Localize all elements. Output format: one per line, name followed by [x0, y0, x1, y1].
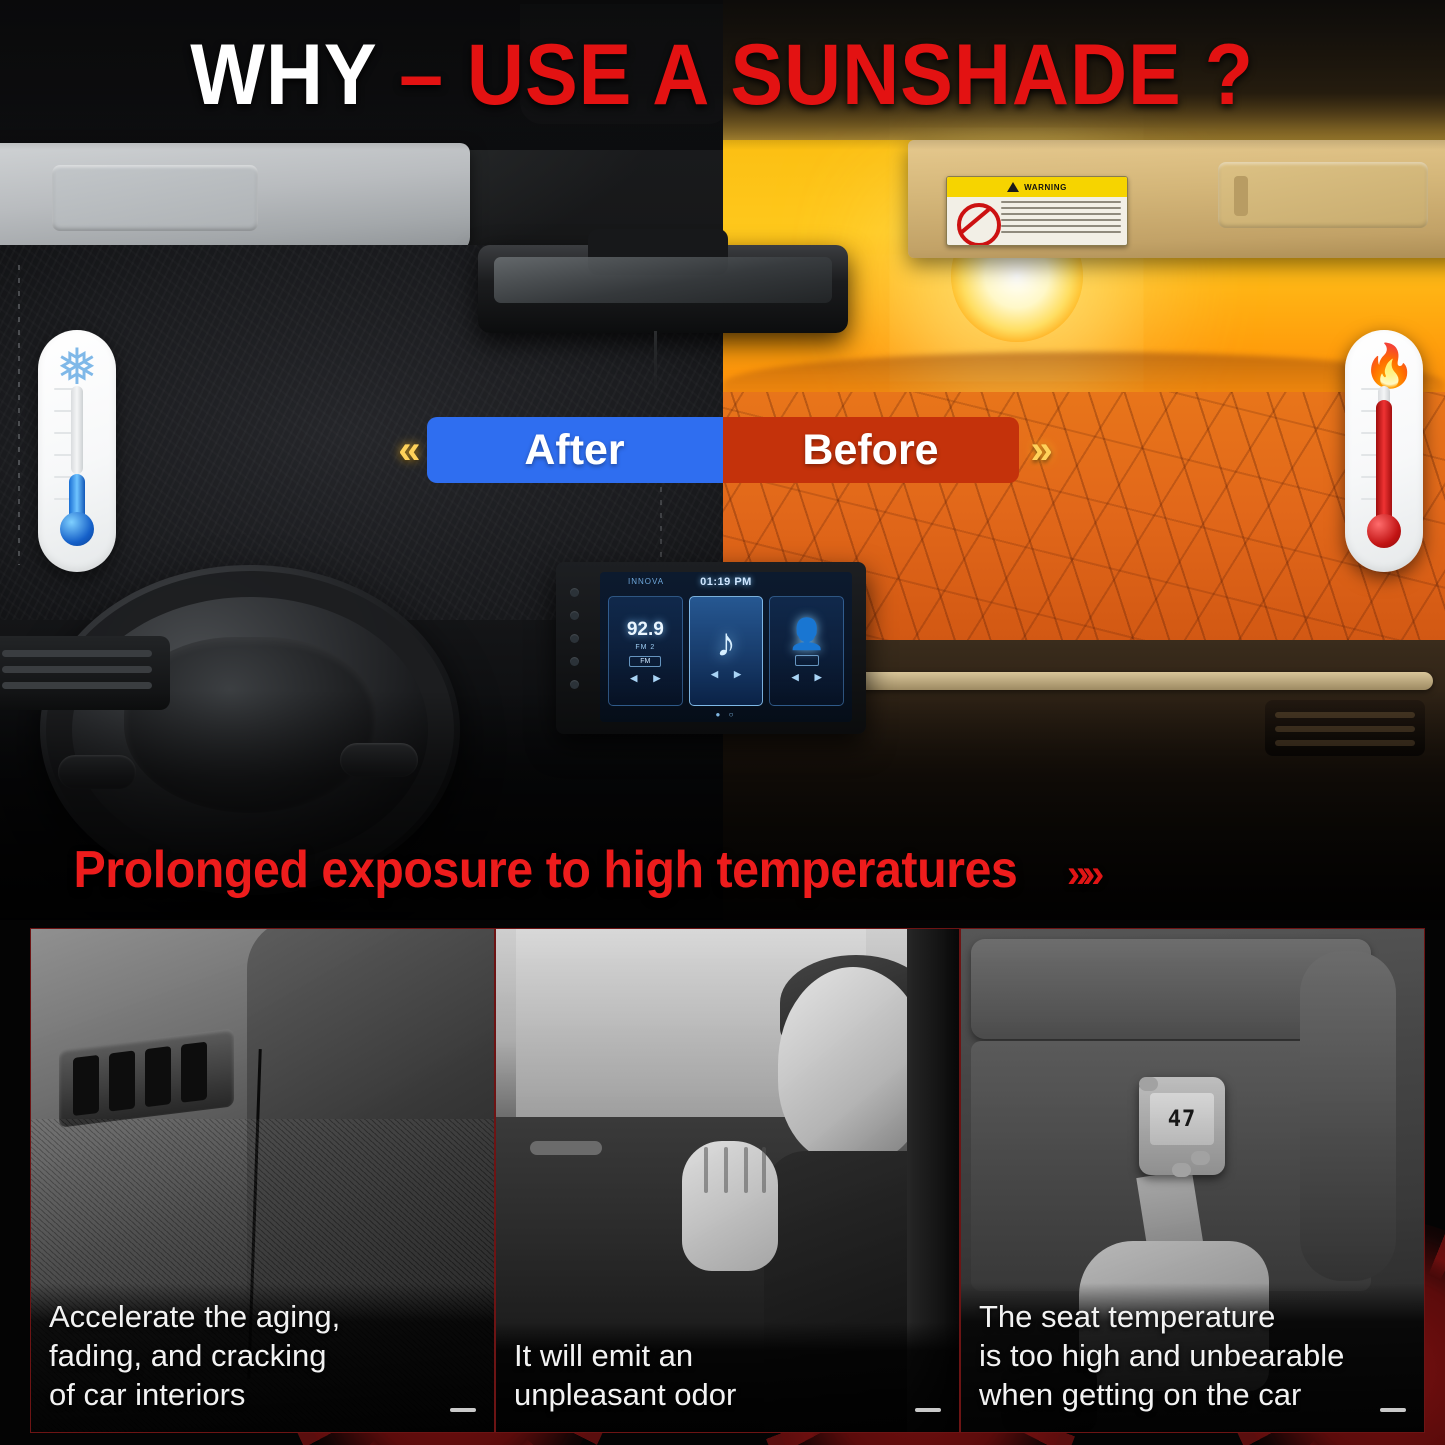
radio-tile[interactable]: 92.9 FM 2 FM ◀ ▶: [608, 596, 683, 706]
visor-slot: [68, 173, 82, 221]
warning-label-body-text: [1001, 201, 1121, 237]
mirror-cable: [654, 331, 657, 395]
caption-line: fading, and cracking: [49, 1336, 476, 1375]
door-handle: [530, 1141, 602, 1155]
media-next-icon[interactable]: ▶: [734, 669, 741, 680]
warning-label-text: WARNING: [1024, 183, 1067, 192]
dashboard-chrome-trim: [833, 672, 1433, 690]
volume-knob-icon[interactable]: [570, 611, 579, 620]
flame-icon: 🔥: [1363, 342, 1407, 390]
chevron-left-icon: «: [386, 428, 426, 473]
profile-next-icon[interactable]: ▶: [815, 672, 822, 683]
infotainment-head-unit[interactable]: INNOVA 01:19 PM 92.9 FM 2 FM ◀ ▶ ♪: [556, 562, 866, 734]
profile-prev-icon[interactable]: ◀: [792, 672, 799, 683]
head-unit-brand-label: INNOVA: [628, 577, 664, 586]
head-unit-side-buttons[interactable]: [570, 588, 579, 689]
caption-dash-icon: [1380, 1408, 1406, 1412]
chevron-right-icon-subhead: »»: [1067, 852, 1098, 897]
card-1-caption: Accelerate the aging, fading, and cracki…: [31, 1283, 494, 1432]
sun-visor-tan: WARNING: [908, 140, 1445, 258]
radio-frequency: 92.9: [627, 619, 664, 641]
chevron-right-icon: »: [1019, 428, 1059, 473]
profile-tile[interactable]: 👤 ◀ ▶: [769, 596, 844, 706]
card-unpleasant-odor: It will emit an unpleasant odor: [495, 928, 960, 1433]
menu-icon[interactable]: [570, 680, 579, 689]
caption-dash-icon: [915, 1408, 941, 1412]
power-knob-icon[interactable]: [570, 588, 579, 597]
thermometer-reading: 47: [1168, 1107, 1197, 1132]
subhead-row: Prolonged exposure to high temperatures …: [38, 840, 1097, 900]
subhead-text: Prolonged exposure to high temperatures: [74, 840, 1018, 900]
seat-bolster: [1300, 951, 1396, 1281]
infographic-root: WARNING: [0, 0, 1445, 1445]
visor-pocket: [1218, 162, 1428, 228]
infotainment-screen[interactable]: INNOVA 01:19 PM 92.9 FM 2 FM ◀ ▶ ♪: [600, 572, 852, 722]
no-child-seat-icon: [957, 203, 1001, 246]
caption-line: of car interiors: [49, 1375, 476, 1414]
sun-visor-grey: [0, 143, 470, 253]
person-hand: [682, 1141, 778, 1271]
profile-nav-controls[interactable]: ◀ ▶: [792, 672, 822, 683]
radio-band: FM 2: [635, 644, 655, 651]
media-tile[interactable]: ♪ ◀ ▶: [689, 596, 764, 706]
music-note-icon: ♪: [716, 623, 736, 663]
title-red-part: – USE A SUNSHADE ?: [400, 27, 1255, 123]
thermometer-display: 47: [1150, 1093, 1214, 1145]
snowflake-icon: ❅: [52, 342, 102, 392]
gun-button-3: [1139, 1077, 1158, 1091]
caption-line: unpleasant odor: [514, 1375, 941, 1414]
caption-dash-icon: [450, 1408, 476, 1412]
warning-triangle-icon: [1007, 182, 1019, 192]
title-white-part: WHY: [191, 27, 400, 123]
home-icon[interactable]: [570, 657, 579, 666]
before-badge[interactable]: Before: [723, 417, 1019, 483]
card-aging-interiors: Accelerate the aging, fading, and cracki…: [30, 928, 495, 1433]
media-prev-icon[interactable]: ◀: [711, 669, 718, 680]
after-badge[interactable]: After: [427, 417, 723, 483]
caption-line: Accelerate the aging,: [49, 1297, 476, 1336]
profile-name-field[interactable]: [795, 655, 819, 666]
caption-line: It will emit an: [514, 1336, 941, 1375]
title-bar: WHY – USE A SUNSHADE ?: [0, 0, 1445, 150]
thermometer-cold-bulb: [60, 512, 94, 546]
gun-button-1: [1191, 1151, 1210, 1165]
caption-line: is too high and unbearable: [979, 1336, 1406, 1375]
infotainment-clock: 01:19 PM: [700, 576, 752, 588]
radio-source-button[interactable]: FM: [629, 656, 661, 667]
page-title: WHY – USE A SUNSHADE ?: [191, 32, 1255, 118]
warning-label-header: WARNING: [947, 177, 1127, 197]
mirror-glass: [494, 257, 832, 303]
gun-button-2: [1172, 1163, 1191, 1177]
dash-vent-shape: [59, 1028, 234, 1127]
seek-next-icon[interactable]: ▶: [653, 673, 660, 684]
airbag-warning-label: WARNING: [946, 176, 1128, 246]
user-profile-icon: 👤: [788, 620, 825, 650]
rearview-mirror: [478, 245, 848, 333]
consequences-section: Accelerate the aging, fading, and cracki…: [0, 920, 1445, 1445]
caption-line: The seat temperature: [979, 1297, 1406, 1336]
caption-line: when getting on the car: [979, 1375, 1406, 1414]
before-after-badge-row: « After Before »: [0, 414, 1445, 486]
page-indicator-dots: ● ○: [600, 710, 852, 719]
radio-seek-controls[interactable]: ◀ ▶: [630, 673, 660, 684]
card-seat-temperature: 47 The seat temperature is too high and …: [960, 928, 1425, 1433]
seek-prev-icon[interactable]: ◀: [630, 673, 637, 684]
card-2-caption: It will emit an unpleasant odor: [496, 1322, 959, 1432]
infotainment-status-bar: INNOVA 01:19 PM: [600, 572, 852, 592]
person-head: [778, 967, 928, 1163]
card-3-caption: The seat temperature is too high and unb…: [961, 1283, 1424, 1432]
infotainment-tiles: 92.9 FM 2 FM ◀ ▶ ♪ ◀ ▶: [608, 596, 844, 706]
mute-icon[interactable]: [570, 634, 579, 643]
infrared-thermometer-gun: 47: [1139, 1077, 1225, 1175]
media-transport-controls[interactable]: ◀ ▶: [711, 669, 741, 680]
thermometer-hot-bulb: [1367, 514, 1401, 548]
